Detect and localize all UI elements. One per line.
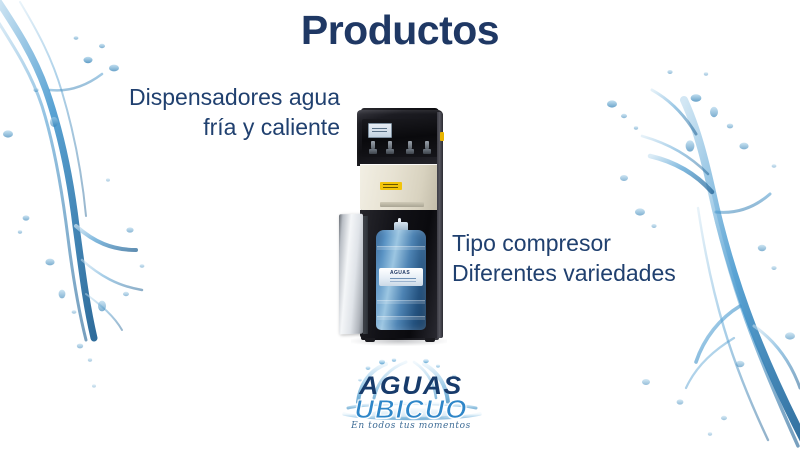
page-title: Productos [0,8,800,53]
dispenser-open-door [339,214,363,335]
bottle-rib [377,246,425,250]
dispenser-control-face [362,119,438,157]
bottle-rib [377,316,425,320]
dispenser-side-panel [437,112,443,338]
bottle-brand-label: AGUAS [379,268,423,286]
dispenser-latch-icon [440,132,444,141]
dispenser-tap-3 [406,141,414,156]
dispensadores-caption: Dispensadores agua fría y caliente [60,82,340,143]
bottle-brand-text: AGUAS [390,271,410,276]
dispenser-foot [365,338,375,342]
logo-word-ubicuo: UBICUO [327,396,495,422]
compresor-caption: Tipo compresor Diferentes variedades [452,228,752,289]
dispenser-top-hood [357,110,443,166]
water-bottle: AGUAS [376,222,426,330]
dispenser-tap-1 [369,141,377,156]
bottle-body: AGUAS [376,230,426,330]
logo-tagline: En todos tus momentos [330,422,492,431]
dispenser-front-panel [360,164,440,210]
dispenser-drip-tray [380,202,424,207]
aguas-ubicuo-logo: AGUAS UBICUO En todos tus momentos [330,358,492,444]
dispenser-tap-2 [386,141,394,156]
dispenser-bottle-bay: AGUAS [360,210,440,338]
slide-canvas: Productos Dispensadores agua fría y cali… [0,0,800,450]
water-splash-left-icon [0,0,160,414]
dispenser-taps-group [367,141,437,159]
bottle-rib [377,300,425,304]
dispenser-foot [425,338,435,342]
dispenser-door-frame [363,216,368,334]
dispenser-display-label [368,123,392,138]
warning-sticker-icon [380,182,402,190]
water-dispenser-photo: AGUAS [343,108,453,346]
dispenser-tap-4 [423,141,431,156]
bottle-label-lines [390,278,416,279]
